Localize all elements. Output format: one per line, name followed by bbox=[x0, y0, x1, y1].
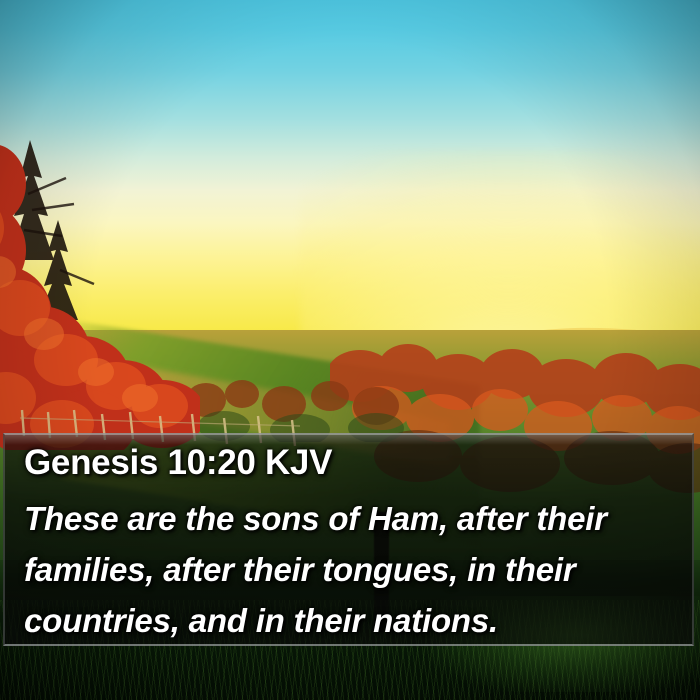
autumn-tree-left bbox=[0, 120, 200, 450]
verse-reference-title: Genesis 10:20 KJV bbox=[24, 443, 332, 483]
verse-overlay-panel: Genesis 10:20 KJV These are the sons of … bbox=[3, 433, 694, 646]
verse-image-card: Genesis 10:20 KJV These are the sons of … bbox=[0, 0, 700, 700]
verse-text: These are the sons of Ham, after their f… bbox=[24, 493, 679, 646]
